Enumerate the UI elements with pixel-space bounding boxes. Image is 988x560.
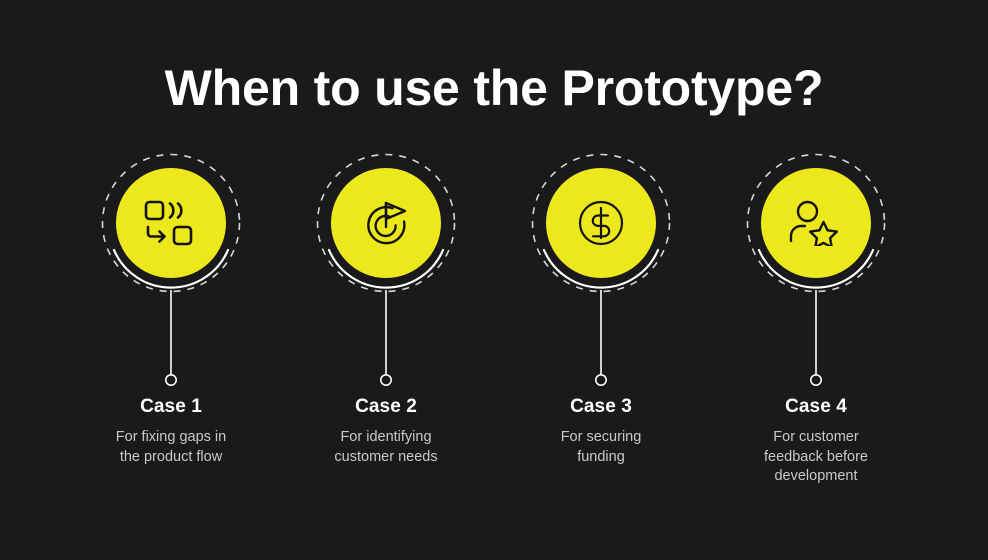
case-badge-4: [716, 150, 916, 300]
case-title-3: Case 3: [501, 395, 701, 419]
case-column-4[interactable]: Case 4 For customer feedback before deve…: [716, 150, 916, 510]
connector-line-3: [591, 290, 611, 390]
case-description-4: For customer feedback before development: [716, 428, 916, 487]
case-badge-2: [286, 150, 486, 300]
case-badge-1: [71, 150, 271, 300]
cases-row: Case 1 For fixing gaps in the product fl…: [0, 150, 988, 510]
case-caption-1: Case 1 For fixing gaps in the product fl…: [71, 395, 271, 467]
case-title-2: Case 2: [286, 395, 486, 419]
case-description-4-line-2: feedback before: [764, 449, 868, 465]
slide-canvas: When to use the Prototype?: [0, 0, 988, 560]
target-flag-icon: [331, 168, 441, 278]
case-title-1: Case 1: [71, 395, 271, 419]
case-title-4: Case 4: [716, 395, 916, 419]
case-description-2: For identifying customer needs: [286, 428, 486, 467]
case-description-1: For fixing gaps in the product flow: [71, 428, 271, 467]
prototype-flow-icon: [116, 168, 226, 278]
case-column-3[interactable]: Case 3 For securing funding: [501, 150, 701, 510]
case-column-1[interactable]: Case 1 For fixing gaps in the product fl…: [71, 150, 271, 510]
case-column-2[interactable]: Case 2 For identifying customer needs: [286, 150, 486, 510]
user-star-icon: [761, 168, 871, 278]
case-description-4-line-3: development: [774, 468, 857, 484]
connector-line-4: [806, 290, 826, 390]
case-badge-3: [501, 150, 701, 300]
case-description-4-line-1: For customer: [773, 429, 858, 445]
connector-line-1: [161, 290, 181, 390]
case-description-3-line-1: For securing: [561, 429, 642, 445]
case-caption-2: Case 2 For identifying customer needs: [286, 395, 486, 467]
page-title: When to use the Prototype?: [0, 56, 988, 120]
dollar-coin-icon: [546, 168, 656, 278]
case-caption-4: Case 4 For customer feedback before deve…: [716, 395, 916, 487]
case-description-3: For securing funding: [501, 428, 701, 467]
case-description-1-line-1: For fixing gaps in: [116, 429, 226, 445]
case-description-3-line-2: funding: [577, 449, 625, 465]
case-description-2-line-1: For identifying: [340, 429, 431, 445]
case-description-1-line-2: the product flow: [120, 449, 222, 465]
connector-line-2: [376, 290, 396, 390]
case-description-2-line-2: customer needs: [334, 449, 437, 465]
case-caption-3: Case 3 For securing funding: [501, 395, 701, 467]
